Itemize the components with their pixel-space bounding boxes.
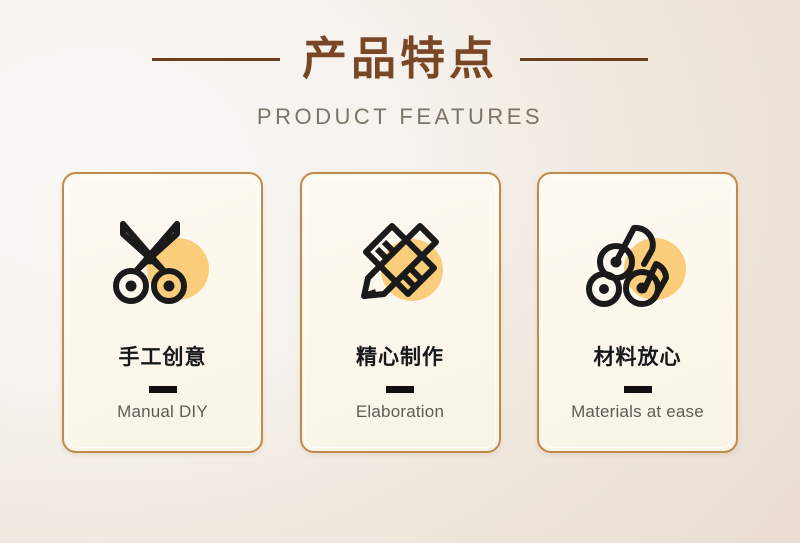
product-features-section: 产品特点 PRODUCT FEATURES: [0, 0, 800, 543]
card-divider: [149, 386, 177, 393]
icon-wrap: [302, 216, 499, 312]
icon-wrap: [539, 216, 736, 312]
icon-wrap: [64, 216, 261, 312]
card-divider: [386, 386, 414, 393]
pencil-ruler-glyph: [348, 216, 452, 312]
section-header: 产品特点 PRODUCT FEATURES: [0, 0, 800, 150]
scissors-glyph: [111, 216, 215, 312]
card-title: 手工创意: [64, 341, 261, 371]
title-rule-left-icon: [152, 58, 280, 61]
card-divider: [624, 386, 652, 393]
feature-card-manual-diy[interactable]: 手工创意 Manual DIY: [62, 172, 263, 453]
ribbon-rolls-glyph: [586, 216, 690, 312]
ribbon-rolls-icon: [586, 216, 690, 312]
page-subtitle: PRODUCT FEATURES: [0, 104, 800, 130]
card-title: 材料放心: [539, 341, 736, 371]
card-subtitle: Manual DIY: [64, 402, 261, 422]
feature-card-list: 手工创意 Manual DIY: [62, 172, 738, 453]
card-title: 精心制作: [302, 341, 499, 371]
feature-card-materials[interactable]: 材料放心 Materials at ease: [537, 172, 738, 453]
title-rule-right-icon: [520, 58, 648, 61]
scissors-icon: [111, 216, 215, 312]
pencil-ruler-icon: [348, 216, 452, 312]
page-title: 产品特点: [302, 30, 498, 88]
card-subtitle: Materials at ease: [539, 402, 736, 422]
feature-card-elaboration[interactable]: 精心制作 Elaboration: [300, 172, 501, 453]
title-row: 产品特点: [0, 28, 800, 90]
card-subtitle: Elaboration: [302, 402, 499, 422]
